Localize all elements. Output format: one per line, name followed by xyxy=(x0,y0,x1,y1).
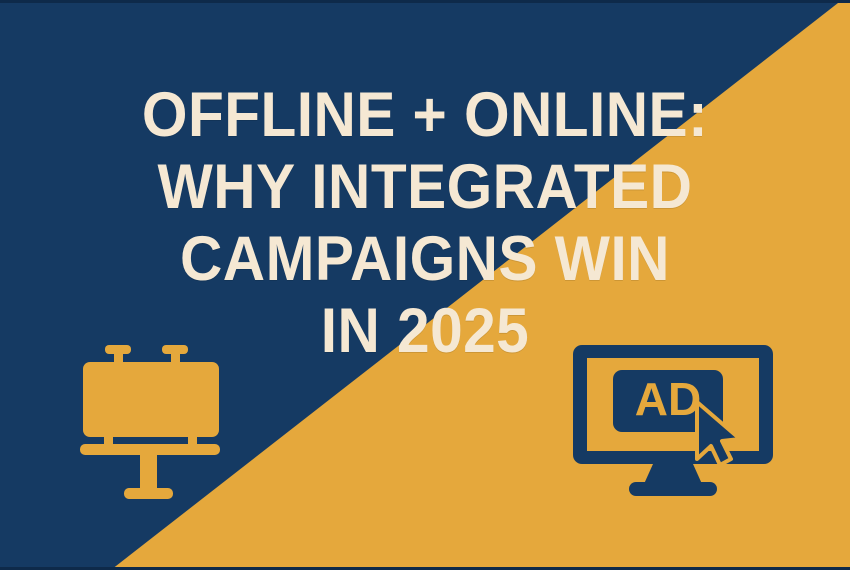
monitor-neck xyxy=(644,464,702,484)
monitor-ad-label: AD xyxy=(635,373,701,425)
poster-canvas: OFFLINE + ONLINE: WHY INTEGRATED CAMPAIG… xyxy=(0,0,850,570)
poster-headline: OFFLINE + ONLINE: WHY INTEGRATED CAMPAIG… xyxy=(30,79,821,367)
headline-line-3: CAMPAIGNS WIN xyxy=(30,223,821,295)
headline-line-4: IN 2025 xyxy=(30,295,821,367)
headline-line-1: OFFLINE + ONLINE: xyxy=(30,79,821,151)
headline-line-2: WHY INTEGRATED xyxy=(30,151,821,223)
monitor-base xyxy=(629,482,717,496)
